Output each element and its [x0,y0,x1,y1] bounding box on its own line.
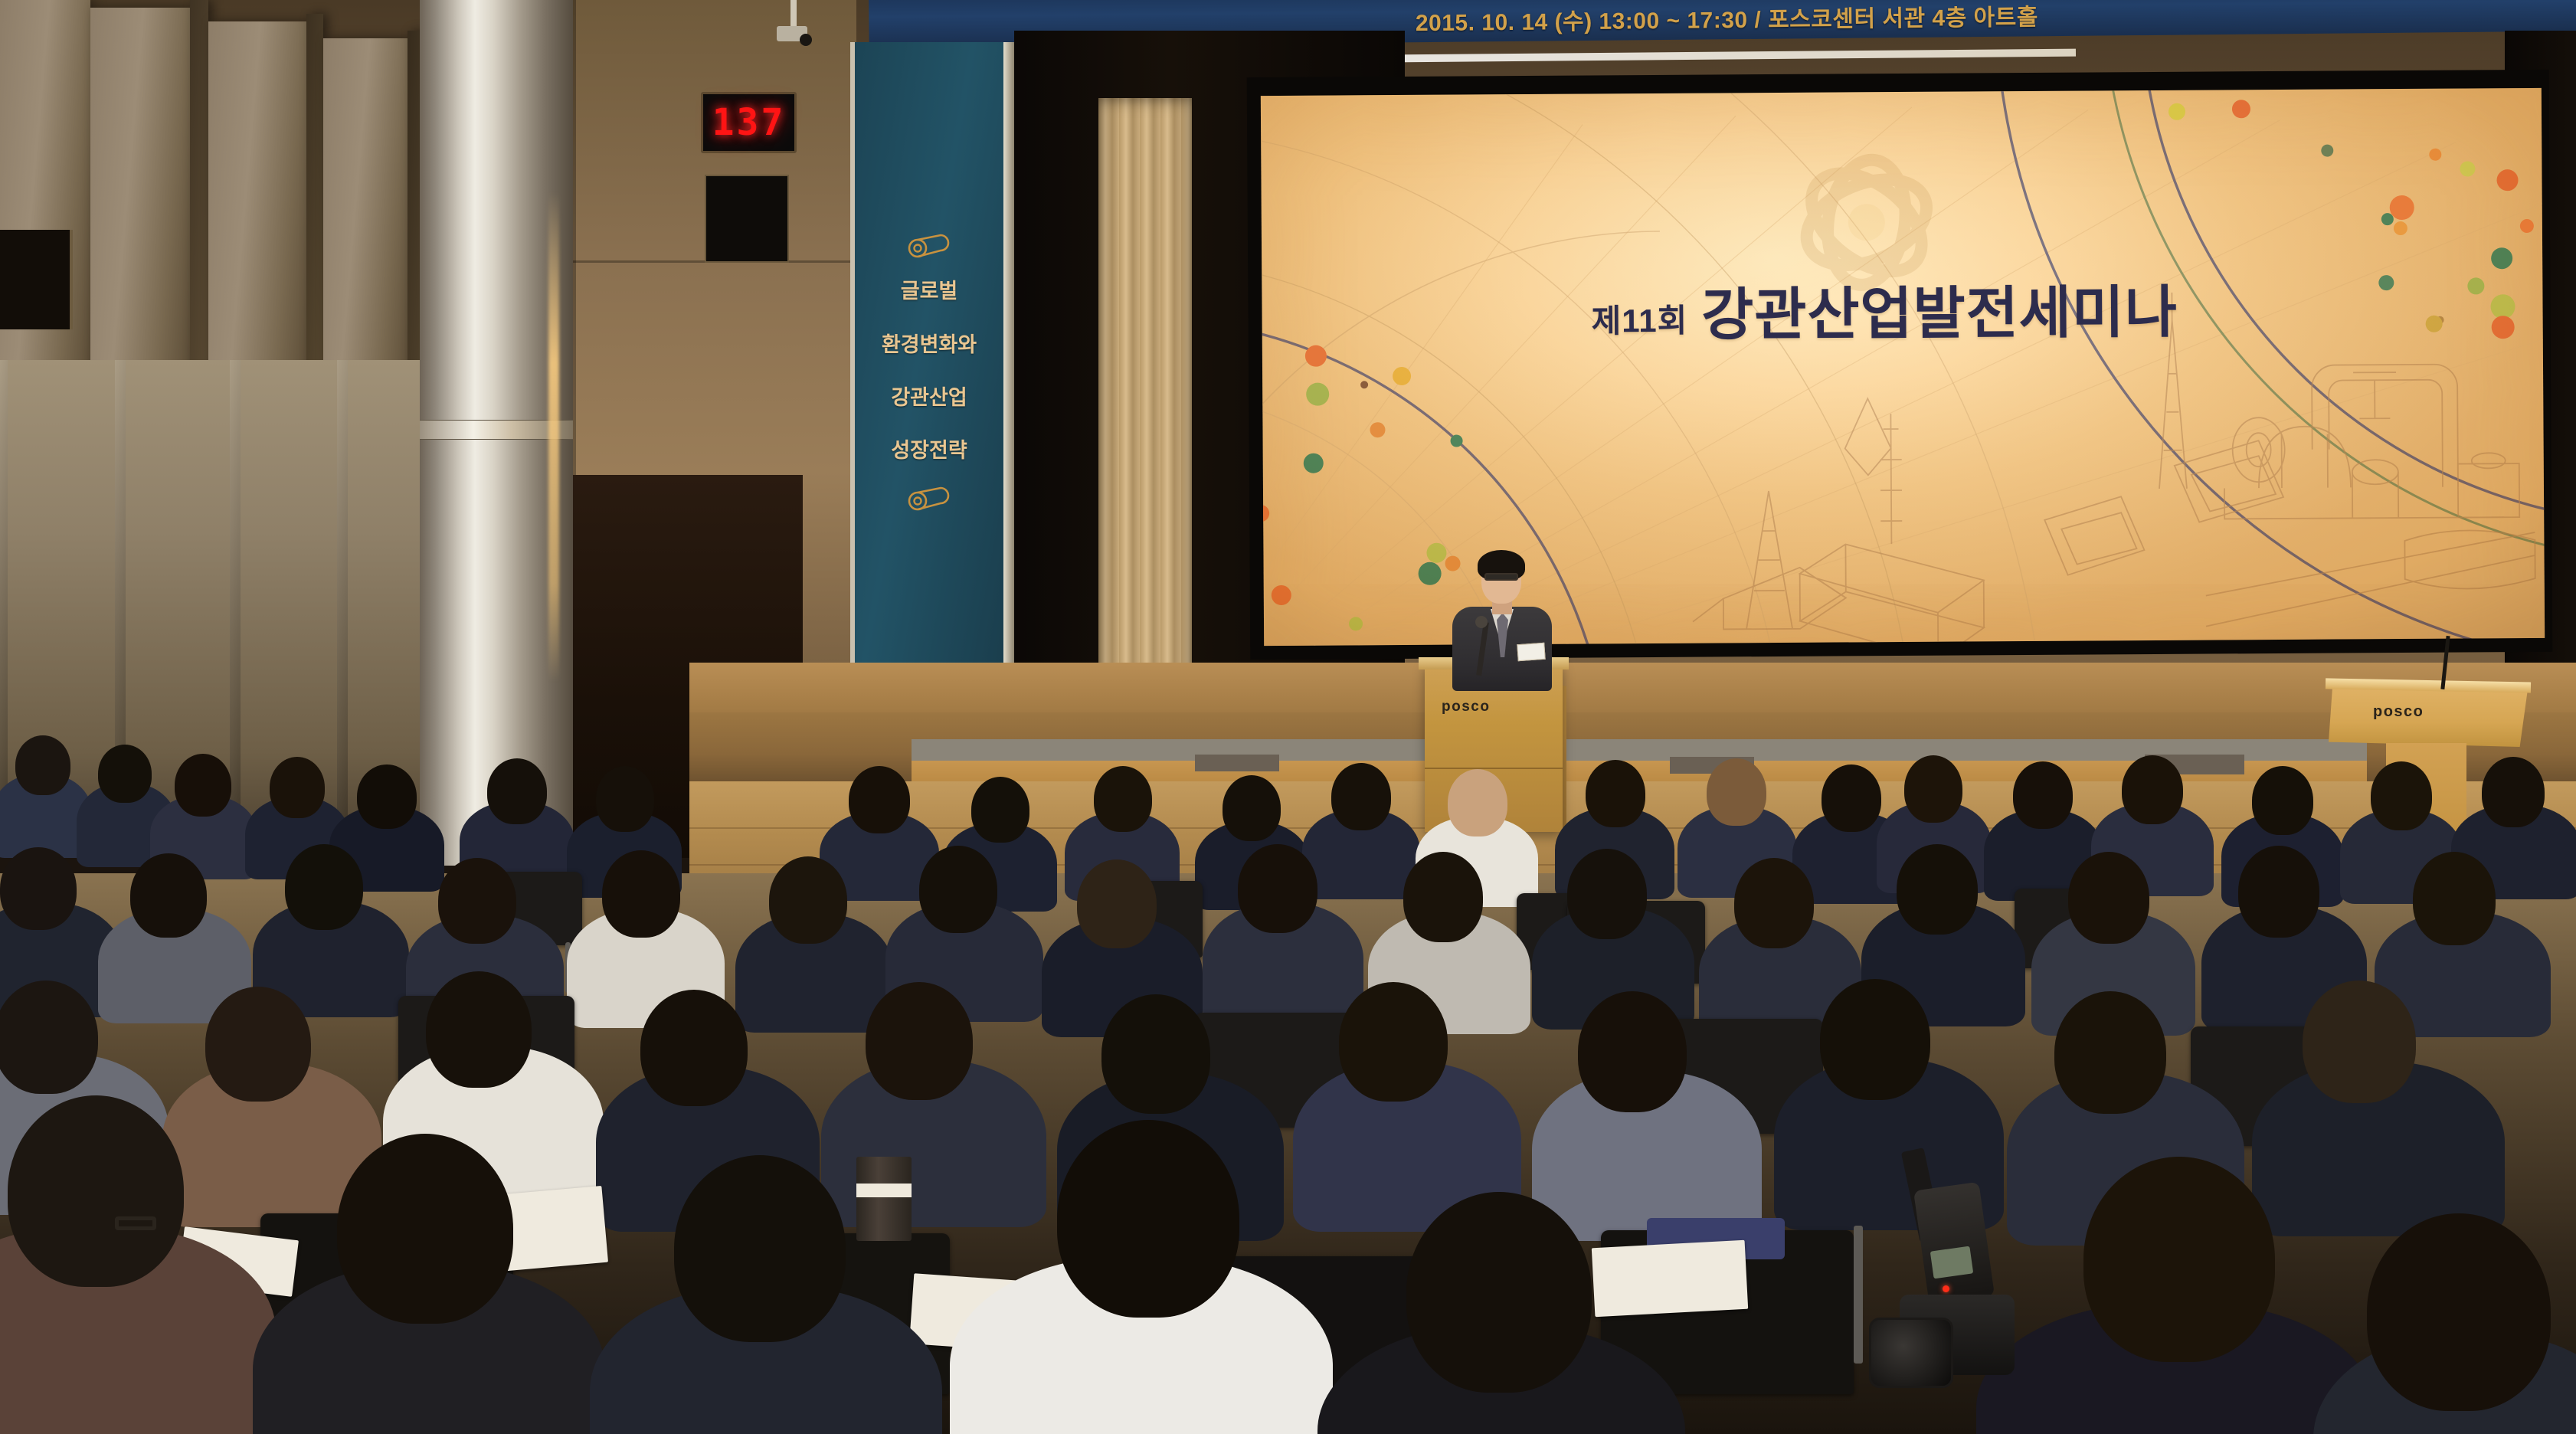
audience-head [1820,979,1930,1100]
audience-head [1578,991,1687,1112]
audience-head [2303,981,2416,1103]
chair-leg [1854,1226,1863,1364]
audience-head [2068,852,2149,944]
audience-head [674,1155,846,1342]
audience-head [426,971,532,1088]
audience-head [1339,982,1448,1102]
handout-paper [1592,1240,1748,1317]
audience-head [285,844,363,930]
audience-head [15,735,70,795]
audience-head [270,757,325,818]
audience-head [175,754,231,817]
audience-head [8,1095,184,1287]
audience-head [971,777,1029,843]
audience-head [2367,1213,2551,1411]
auditorium-seminar-photo: 137 2015. 10. 14 (수) 13:00 ~ 17:30 / 포스코… [0,0,2576,1434]
audience-head [596,766,654,832]
audience-head [357,764,417,829]
audience-head [1238,844,1317,933]
audience-head [1897,844,1978,935]
audience-head [1077,859,1157,948]
audience-head [130,853,207,938]
audience-head [1057,1120,1239,1318]
audience-head [919,846,997,933]
audience-head [2122,755,2183,824]
camera-lens [1869,1318,1953,1388]
audience-head [1101,994,1210,1114]
audience-head [1406,1192,1592,1393]
audience-head [487,758,547,824]
audience-head [1586,760,1645,827]
audience-head [98,745,152,803]
audience-head [1734,858,1814,948]
audience-head [1822,764,1881,832]
camera-status-led [1943,1285,1949,1292]
audience-head [602,850,680,938]
audience-head [337,1134,513,1324]
audience-head [2252,766,2313,835]
audience-head [1904,755,1962,823]
audience-head [0,981,98,1094]
audience-head [640,990,748,1106]
audience-head [0,847,77,930]
audience-head [1331,763,1391,830]
coffee-cup-band [856,1184,912,1197]
audience-head [1223,775,1281,841]
eyeglasses [115,1216,156,1230]
audience-head [866,982,973,1100]
audience-head [1567,849,1647,939]
audience-head [1403,852,1483,942]
audience-head [849,766,910,833]
audience-head [2371,761,2432,830]
audience-head [2013,761,2073,829]
audience-head [2083,1157,2275,1362]
audience-head [205,987,311,1102]
audience-head [438,858,516,944]
audience-head [2413,852,2496,945]
camera-flash-screen [1930,1246,1974,1279]
audience-head [1448,769,1507,837]
audience-head [1094,766,1152,832]
audience-head [769,856,847,944]
audience-area [0,0,2576,1434]
audience-head [2054,991,2166,1114]
audience-head [1707,758,1766,826]
audience-head [2482,757,2545,827]
audience-head [2238,846,2319,938]
coffee-cup [856,1157,912,1241]
